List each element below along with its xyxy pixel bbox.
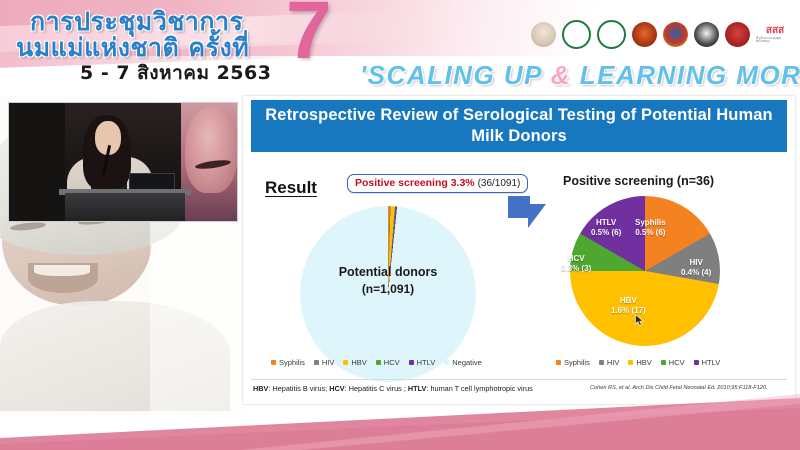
conference-tagline: 'SCALING UP & LEARNING MORE' xyxy=(360,60,800,91)
bottom-pink-wedge xyxy=(0,394,800,450)
tagline-ampersand: & xyxy=(551,60,571,90)
slice-label-htlv-name: HTLV xyxy=(596,218,616,227)
blue-arrow-icon xyxy=(506,194,548,234)
legend-label-negative: Negative xyxy=(452,358,482,367)
abbr-hbv-def: : Hepatitis B virus; xyxy=(268,384,329,393)
callout-fraction: (36/1091) xyxy=(478,178,521,189)
slice-label-syphilis-value: 0.5% (6) xyxy=(635,228,665,237)
red-royal-crest-logo-icon xyxy=(725,22,750,47)
slice-label-htlv-value: 0.5% (6) xyxy=(591,228,621,237)
legend-potential-donors: Syphilis HIV HBV HCV HTLV Negative xyxy=(271,358,482,367)
legend2-item-syphilis: Syphilis xyxy=(556,358,590,367)
slide-title: Retrospective Review of Serological Test… xyxy=(251,100,787,152)
legend-swatch-syphilis xyxy=(271,360,276,365)
slice-label-htlv: HTLV 0.5% (6) xyxy=(591,218,621,238)
legend-swatch-hbv xyxy=(343,360,348,365)
slice-label-hbv-name: HBV xyxy=(620,296,637,305)
legend-item-negative: Negative xyxy=(444,358,482,367)
legend2-item-hbv: HBV xyxy=(628,358,651,367)
video-overlay-face xyxy=(185,107,237,193)
legend-item-hiv: HIV xyxy=(314,358,335,367)
legend-label-hbv: HBV xyxy=(351,358,366,367)
slice-label-hiv: HIV 0.4% (4) xyxy=(681,258,711,278)
slice-label-hiv-name: HIV xyxy=(689,258,702,267)
thaihealth-logo-text: สสส xyxy=(766,26,784,36)
legend2-label-syphilis: Syphilis xyxy=(564,358,590,367)
slice-label-syphilis: Syphilis 0.5% (6) xyxy=(635,218,666,238)
legend2-item-hcv: HCV xyxy=(661,358,685,367)
result-heading: Result xyxy=(265,178,317,198)
conference-header-banner: การประชุมวิชาการ นมแม่แห่งชาติ ครั้งที่ … xyxy=(0,0,800,95)
legend2-item-hiv: HIV xyxy=(599,358,620,367)
legend-swatch-negative xyxy=(444,360,449,365)
legend2-label-hcv: HCV xyxy=(669,358,685,367)
thai-royal-crest-logo-icon xyxy=(663,22,688,47)
green-medical-logo-2-icon xyxy=(597,20,626,49)
footer-abbreviations: HBV: Hepatitis B virus; HCV: Hepatitis C… xyxy=(253,384,533,393)
orange-royal-emblem-logo-icon xyxy=(632,22,657,47)
abbr-hcv-def: : Hepatitis C virus ; xyxy=(345,384,408,393)
abbr-hcv: HCV xyxy=(329,384,344,393)
conference-date-thai: 5 - 7 สิงหาคม 2563 xyxy=(80,58,271,88)
legend-label-htlv: HTLV xyxy=(417,358,436,367)
child-teeth xyxy=(34,265,90,276)
legend2-swatch-htlv xyxy=(694,360,699,365)
slide-citation: Cohen RS, et al. Arch Dis Child Fetal Ne… xyxy=(590,385,768,391)
green-medical-logo-1-icon xyxy=(562,20,591,49)
legend-positive-screening: Syphilis HIV HBV HCV HTLV xyxy=(556,358,720,367)
positive-screening-pie-title: Positive screening (n=36) xyxy=(563,174,714,188)
legend-swatch-hiv xyxy=(314,360,319,365)
legend2-label-htlv: HTLV xyxy=(702,358,721,367)
footer-divider xyxy=(251,379,787,380)
positive-screening-callout: Positive screening 3.3% (36/1091) xyxy=(347,174,528,193)
video-left-wall xyxy=(9,103,65,221)
abbr-hbv: HBV xyxy=(253,384,268,393)
tagline-part-2: LEARNING MORE' xyxy=(571,60,800,90)
potential-donors-title: Potential donors xyxy=(300,264,476,281)
callout-highlight: Positive screening 3.3% xyxy=(355,177,475,189)
legend-item-hcv: HCV xyxy=(376,358,400,367)
slice-label-hbv: HBV 1.6% (17) xyxy=(611,296,646,316)
legend2-label-hiv: HIV xyxy=(607,358,620,367)
abbr-htlv-def: : human T cell lymphotropic virus xyxy=(426,384,532,393)
black-garuda-logo-icon xyxy=(694,22,719,47)
tagline-part-1: 'SCALING UP xyxy=(360,60,551,90)
legend-item-hbv: HBV xyxy=(343,358,366,367)
legend2-item-htlv: HTLV xyxy=(694,358,721,367)
slice-label-hcv-value: 0.3% (3) xyxy=(561,264,591,273)
slice-label-hiv-value: 0.4% (4) xyxy=(681,268,711,277)
buddha-emblem-logo-icon xyxy=(531,22,556,47)
legend2-label-hbv: HBV xyxy=(636,358,651,367)
speaker-video-inset[interactable] xyxy=(8,102,238,222)
presentation-screen: การประชุมวิชาการ นมแม่แห่งชาติ ครั้งที่ … xyxy=(0,0,800,450)
legend-label-hiv: HIV xyxy=(322,358,335,367)
legend-swatch-htlv xyxy=(409,360,414,365)
legend-item-syphilis: Syphilis xyxy=(271,358,305,367)
conference-edition-number: 7 xyxy=(286,0,332,72)
thaihealth-logo-subtext: สำนักงานกองทุนสนับสนุน xyxy=(756,37,794,44)
legend2-swatch-syphilis xyxy=(556,360,561,365)
thaihealth-sss-logo-icon: สสส สำนักงานกองทุนสนับสนุน xyxy=(756,22,794,47)
potential-donors-pie-label: Potential donors (n=1,091) xyxy=(300,264,476,297)
podium xyxy=(65,193,185,221)
slice-label-hcv-name: HCV xyxy=(568,254,585,263)
legend2-swatch-hcv xyxy=(661,360,666,365)
potential-donors-subtitle: (n=1,091) xyxy=(300,281,476,297)
abbr-htlv: HTLV xyxy=(408,384,427,393)
legend-swatch-hcv xyxy=(376,360,381,365)
legend-item-htlv: HTLV xyxy=(409,358,436,367)
legend-label-syphilis: Syphilis xyxy=(279,358,305,367)
legend2-swatch-hiv xyxy=(599,360,604,365)
slide-panel: Retrospective Review of Serological Test… xyxy=(243,96,795,404)
slice-label-hcv: HCV 0.3% (3) xyxy=(561,254,591,274)
legend2-swatch-hbv xyxy=(628,360,633,365)
sponsor-logos-row: สสส สำนักงานกองทุนสนับสนุน xyxy=(531,20,794,49)
slice-label-syphilis-name: Syphilis xyxy=(635,218,666,227)
mouse-cursor-icon xyxy=(635,314,644,327)
legend-label-hcv: HCV xyxy=(384,358,400,367)
